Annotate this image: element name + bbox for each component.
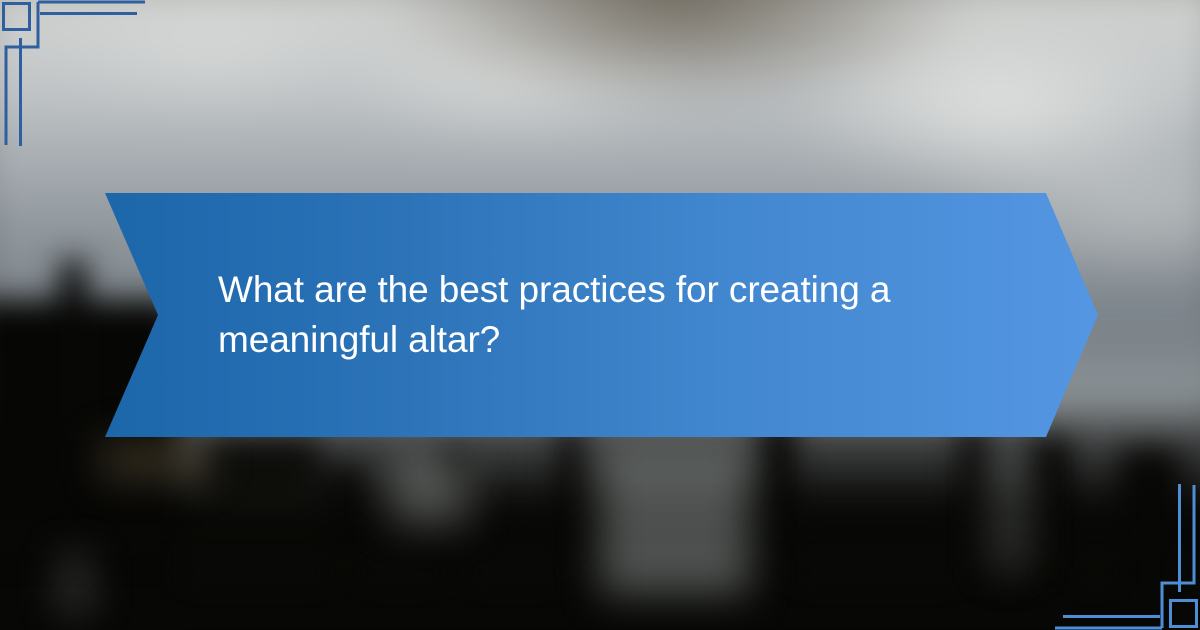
background-highlight bbox=[600, 445, 750, 595]
share-card: What are the best practices for creating… bbox=[0, 0, 1200, 630]
background-highlight bbox=[990, 450, 1030, 570]
question-text: What are the best practices for creating… bbox=[105, 265, 1098, 364]
background-highlight bbox=[390, 455, 470, 525]
background-highlight bbox=[60, 555, 90, 615]
question-banner: What are the best practices for creating… bbox=[105, 193, 1098, 437]
background-highlight bbox=[100, 440, 210, 480]
